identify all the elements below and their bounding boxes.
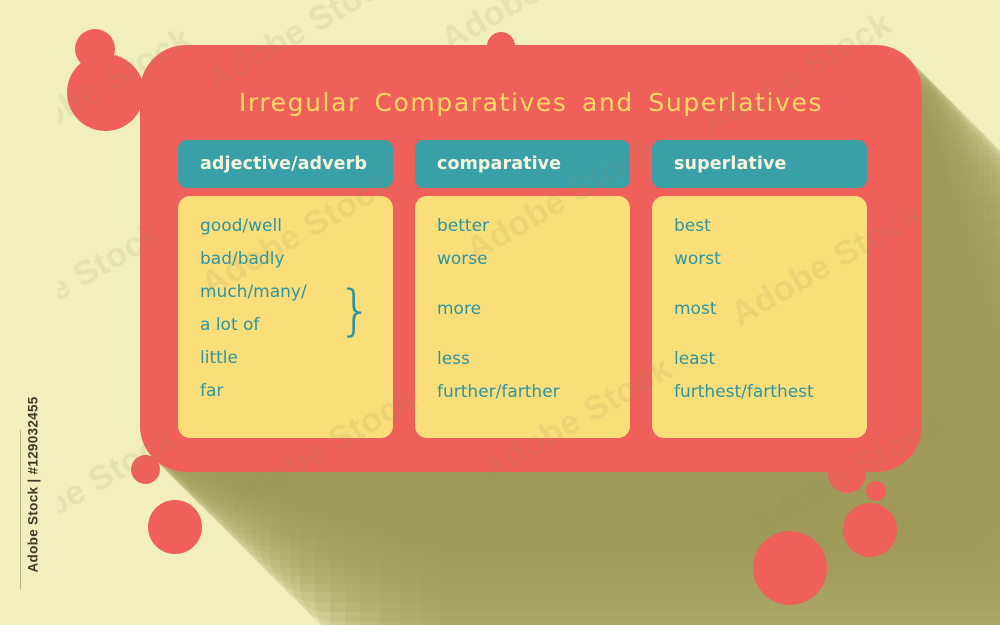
list-item: far	[200, 383, 393, 400]
column-body-comparative: better worse more less further/farther	[415, 196, 630, 438]
bubble-bottom-right-dot	[866, 481, 886, 501]
column-adjective-adverb: adjective/adverb good/well bad/badly muc…	[178, 140, 393, 438]
column-superlative: superlative best worst most least furthe…	[652, 140, 867, 438]
column-header-comparative: comparative	[415, 140, 630, 188]
list-item: better	[437, 218, 630, 235]
column-body-superlative: best worst most least furthest/farthest	[652, 196, 867, 438]
bubble-bottom-left-bump	[131, 455, 160, 484]
list-item: less	[437, 351, 630, 368]
bubble-bottom-right-bump	[828, 455, 866, 493]
column-header-adjective-adverb: adjective/adverb	[178, 140, 393, 188]
curly-brace-icon: }	[338, 284, 372, 338]
list-item: further/farther	[437, 384, 630, 401]
list-item: best	[674, 218, 867, 235]
column-header-superlative: superlative	[652, 140, 867, 188]
comparatives-table: adjective/adverb good/well bad/badly muc…	[178, 140, 868, 438]
bubble-bottom-left-big	[148, 500, 202, 554]
column-comparative: comparative better worse more less furth…	[415, 140, 630, 438]
stock-credit-label: Adobe Stock | #129032455	[26, 353, 41, 573]
bubble-bottom-right-mid	[843, 503, 897, 557]
list-item: more	[437, 301, 630, 318]
list-item: bad/badly	[200, 251, 393, 268]
column-body-adjective-adverb: good/well bad/badly much/many/ a lot of …	[178, 196, 393, 438]
list-item: worse	[437, 251, 630, 268]
credit-divider	[20, 430, 21, 590]
list-item: good/well	[200, 218, 393, 235]
bubble-top-left-small	[75, 29, 115, 69]
list-item: little	[200, 350, 393, 367]
list-item: worst	[674, 251, 867, 268]
poster-canvas: Irregular Comparatives and Superlatives …	[0, 0, 1000, 625]
list-item: least	[674, 351, 867, 368]
page-title: Irregular Comparatives and Superlatives	[140, 88, 922, 117]
credit-strip: Adobe Stock | #129032455	[0, 0, 58, 625]
list-item: furthest/farthest	[674, 384, 867, 401]
bubble-bottom-right-big	[753, 531, 827, 605]
list-item: most	[674, 301, 867, 318]
